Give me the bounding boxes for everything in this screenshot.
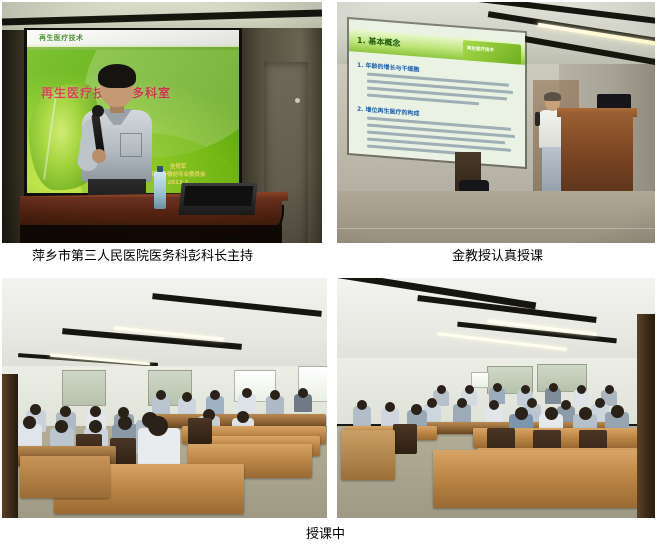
slide-subheading-2: 2. 增位再生医疗的构成 [357, 104, 420, 118]
attendee-head [605, 385, 614, 394]
attendee-head [595, 398, 605, 408]
attendee-head [23, 416, 36, 429]
floor-seam [337, 228, 655, 229]
ceiling [2, 278, 327, 374]
desk-foreground [433, 450, 643, 508]
attendee-head [118, 416, 132, 430]
pillar [2, 374, 18, 518]
attendee-head [237, 411, 249, 423]
wall-sign [471, 372, 489, 388]
slide-subheading-1: 1. 年龄的增长与干细胞 [357, 60, 420, 74]
slide-header-band: 再生医疗技术 [27, 30, 239, 50]
photo-bottom-caption: 授课中 [306, 527, 345, 543]
pillar [637, 314, 655, 518]
photo-1-caption: 萍乡市第三人民医院医务科彭科长主持 [32, 249, 253, 265]
attendee-head [457, 398, 467, 408]
wall-light-dot [295, 98, 300, 103]
attendee-head [545, 407, 558, 420]
desk-left-front [341, 430, 395, 480]
attendee-head [561, 400, 571, 410]
chair [393, 424, 417, 454]
desk-front-left [20, 456, 110, 498]
attendee-head [60, 406, 71, 417]
lecturer-hair [544, 92, 561, 101]
attendee-head [411, 404, 422, 415]
attendee-head [465, 385, 474, 394]
speaker-hair [98, 64, 136, 88]
attendee-head [577, 385, 586, 394]
attendee-head [55, 420, 68, 433]
slide-badge-text: 再生医疗技术 [467, 45, 494, 53]
attendee-front-head [148, 416, 168, 436]
slide-header-text: 1. 基本概念 [357, 35, 400, 49]
attendee-head [579, 407, 592, 420]
attendee-head [515, 407, 528, 420]
microphone-head [92, 105, 104, 117]
slide-badge: 再生医疗技术 [463, 40, 521, 65]
attendee-head [385, 402, 395, 412]
microphone [535, 112, 540, 126]
window-1 [62, 370, 106, 406]
audience-right-photo [337, 278, 655, 518]
photo-2-caption: 金教授认真授课 [452, 249, 543, 265]
audience-left-photo [2, 278, 327, 518]
attendee-head [527, 398, 537, 408]
attendee-head [357, 400, 367, 410]
attendee-head [89, 420, 102, 433]
photo-4-scene [337, 278, 655, 518]
attendee-head [242, 388, 252, 398]
attendee-head [270, 390, 280, 400]
photo-gallery-page: 再生医疗技术 再生医疗技术的多科室 应用 全党军 合学会微创专业委员会 2013… [0, 0, 657, 550]
attendee-head [156, 390, 166, 400]
slide-header-text: 再生医疗技术 [39, 33, 83, 43]
attendee-head [427, 398, 437, 408]
floor [337, 191, 655, 243]
photo-3-scene [2, 278, 327, 518]
slide-header-band: 1. 基本概念 再生医疗技术 [349, 29, 525, 65]
bottle-cap [157, 166, 163, 172]
water-bottle [154, 171, 166, 209]
attendee-head [611, 405, 624, 418]
attendee-head [298, 388, 308, 398]
speaker-hand [92, 149, 106, 163]
attendee-head [521, 385, 530, 394]
attendee-head [549, 383, 558, 392]
chair [188, 418, 212, 444]
attendee-head [30, 404, 41, 415]
attendee-head [437, 385, 446, 394]
speaker-shirt-pocket [120, 133, 142, 157]
attendee-head [210, 390, 220, 400]
projection-screen: 1. 基本概念 再生医疗技术 1. 年龄的增长与干细胞 2. 增位再生医疗的构成 [349, 19, 525, 167]
attendee-head [90, 406, 101, 417]
attendee-head [182, 392, 192, 402]
photo-1-scene: 再生医疗技术 再生医疗技术的多科室 应用 全党军 合学会微创专业委员会 2013… [2, 2, 322, 243]
attendee-head [493, 383, 502, 392]
professor-lecturing-photo: 1. 基本概念 再生医疗技术 1. 年龄的增长与干细胞 2. 增位再生医疗的构成 [337, 2, 655, 243]
attendee-head [489, 400, 499, 410]
laptop-screen [183, 186, 253, 206]
speaker-at-lectern-photo: 再生医疗技术 再生医疗技术的多科室 应用 全党军 合学会微创专业委员会 2013… [2, 2, 322, 243]
photo-2-scene: 1. 基本概念 再生医疗技术 1. 年龄的增长与干细胞 2. 增位再生医疗的构成 [337, 2, 655, 243]
